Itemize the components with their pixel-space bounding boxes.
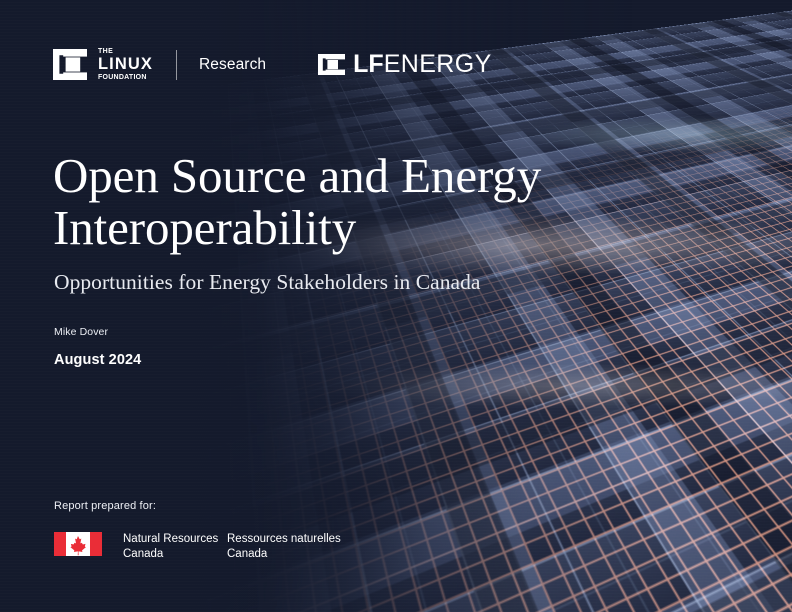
lf-energy-lf-label: LF: [353, 50, 384, 78]
natural-resources-canada-wordmark: Natural Resources Canada Ressources natu…: [54, 532, 341, 561]
nrcan-french-label: Ressources naturelles Canada: [227, 532, 341, 561]
lf-research-label: Research: [199, 56, 266, 74]
nrcan-french-line-1: Ressources naturelles: [227, 532, 341, 547]
page-title: Open Source and Energy Interoperability: [53, 150, 673, 255]
linux-foundation-research-logo[interactable]: THE LINUX FOUNDATION Research: [53, 48, 266, 81]
nrcan-english-label: Natural Resources Canada: [123, 532, 227, 561]
linux-foundation-wordmark: THE LINUX FOUNDATION: [98, 48, 153, 81]
lf-energy-logo[interactable]: LFENERGY: [318, 52, 492, 77]
canada-flag-icon: [54, 532, 102, 556]
lf-linux-label: LINUX: [98, 56, 153, 73]
publication-date: August 2024: [54, 352, 141, 368]
nrcan-english-line-1: Natural Resources: [123, 532, 227, 547]
report-cover-page: THE LINUX FOUNDATION Research LFENERGY: [0, 0, 792, 612]
lf-energy-wordmark: LFENERGY: [353, 52, 492, 77]
lf-energy-bracket-icon: [318, 54, 345, 75]
logo-divider: [176, 50, 177, 80]
linux-foundation-bracket-icon: [53, 49, 87, 80]
lf-the-label: THE: [98, 48, 153, 55]
lf-energy-energy-label: ENERGY: [384, 50, 492, 78]
author-name: Mike Dover: [54, 326, 108, 338]
nrcan-french-line-2: Canada: [227, 547, 341, 562]
page-subtitle: Opportunities for Energy Stakeholders in…: [54, 270, 480, 295]
cover-content: THE LINUX FOUNDATION Research LFENERGY: [0, 0, 792, 612]
prepared-for-label: Report prepared for:: [54, 500, 156, 512]
title-line-2: Interoperability: [53, 202, 673, 254]
logo-bar: THE LINUX FOUNDATION Research LFENERGY: [53, 48, 492, 81]
title-line-1: Open Source and Energy: [53, 148, 541, 203]
lf-foundation-label: FOUNDATION: [98, 74, 153, 81]
nrcan-english-line-2: Canada: [123, 547, 227, 562]
